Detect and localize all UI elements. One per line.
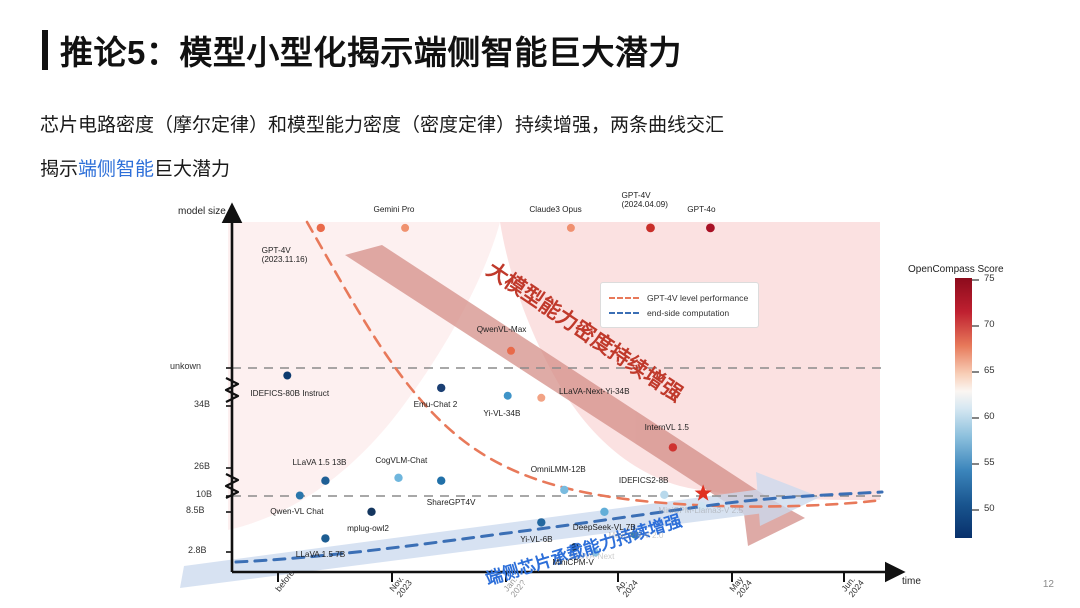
- scatter-point: [321, 534, 329, 542]
- legend-dash-orange-icon: [609, 297, 639, 299]
- legend-item-end-side: end-side computation: [609, 305, 748, 320]
- subtitle-line-2: 揭示端侧智能巨大潜力: [40, 148, 1040, 192]
- scatter-point-label: GPT-4V(2023.11.16): [262, 246, 308, 265]
- legend-label-gpt4v-level: GPT-4V level performance: [647, 293, 748, 303]
- scatter-point: [401, 224, 409, 232]
- slide-subtitle: 芯片电路密度（摩尔定律）和模型能力密度（密度定律）持续增强，两条曲线交汇 揭示端…: [40, 104, 1040, 192]
- scatter-point-label: LLaVA-Next-Yi-34B: [559, 387, 630, 396]
- scatter-point: [321, 477, 329, 485]
- scatter-point-label: mplug-owl2: [347, 524, 389, 533]
- scatter-point: [504, 392, 512, 400]
- scatter-point-label: Yi-VL-34B: [483, 409, 520, 418]
- y-tick-unkown: unkown: [170, 361, 201, 371]
- scatter-point-label: LLaVA 1.5 13B: [293, 458, 347, 467]
- scatter-point-label: Qwen-VL Chat: [270, 507, 323, 516]
- page-title: 推论5：模型小型化揭示端侧智能巨大潜力: [60, 26, 682, 74]
- scatter-point: [367, 508, 375, 516]
- scatter-point-label: LLaVA 1.5 7B: [296, 550, 345, 559]
- scatter-point-label: LLaVA-Next: [571, 552, 615, 561]
- x-axis-label: time: [902, 576, 921, 588]
- scatter-point: [646, 224, 655, 233]
- scatter-point-label: IDEFICS2-8B: [619, 476, 669, 485]
- subtitle-line-1: 芯片电路密度（摩尔定律）和模型能力密度（密度定律）持续增强，两条曲线交汇: [40, 104, 1040, 148]
- colorbar-tick-65: 65: [984, 366, 995, 377]
- y-tick-28b: 2.8B: [188, 545, 207, 555]
- scatter-point-label: QwenVL-Max: [477, 325, 527, 334]
- model-size-vs-time-scatter-chart: model size time unkown 34B 26B 10B 8.5B …: [160, 200, 1060, 600]
- scatter-point: [706, 224, 715, 233]
- scatter-point: [437, 384, 445, 392]
- scatter-point: [537, 518, 545, 526]
- y-tick-85b: 8.5B: [186, 505, 205, 515]
- scatter-point: [437, 477, 445, 485]
- colorbar-tick-55: 55: [984, 458, 995, 469]
- colorbar-tick-75: 75: [984, 274, 995, 285]
- colorbar-tick-70: 70: [984, 320, 995, 331]
- legend-item-gpt4v-level: GPT-4V level performance: [609, 290, 748, 305]
- colorbar-tick-50: 50: [984, 504, 995, 515]
- title-accent-bar: [42, 30, 48, 70]
- legend-dash-blue-icon: [609, 312, 639, 314]
- scatter-point-label: InternVL 1.5: [645, 423, 689, 432]
- y-tick-26b: 26B: [194, 461, 210, 471]
- scatter-point-label: IDEFICS-80B Instruct: [250, 389, 329, 398]
- scatter-point-label: Emu-Chat 2: [414, 400, 458, 409]
- slide-canvas: 推论5：模型小型化揭示端侧智能巨大潜力 芯片电路密度（摩尔定律）和模型能力密度（…: [0, 0, 1080, 608]
- subtitle-line-2-post: 巨大潜力: [154, 159, 230, 180]
- y-tick-10b: 10B: [196, 489, 212, 499]
- scatter-point-label: GPT-4o: [687, 205, 715, 214]
- page-number: 12: [1043, 579, 1054, 590]
- colorbar-tick-60: 60: [984, 412, 995, 423]
- scatter-point: [394, 474, 402, 482]
- scatter-point-label: MiniCPM-Llama3-V 2.5: [658, 506, 743, 515]
- scatter-point-label: GPT-4V(2024.04.09): [622, 191, 668, 210]
- slide-title-row: 推论5：模型小型化揭示端侧智能巨大潜力: [42, 26, 682, 74]
- scatter-point: [660, 491, 668, 499]
- legend-label-end-side: end-side computation: [647, 308, 729, 318]
- scatter-point: [507, 347, 515, 355]
- y-axis-label: model size: [178, 206, 226, 218]
- subtitle-highlight: 端侧智能: [78, 159, 154, 180]
- scatter-point: [600, 508, 608, 516]
- scatter-point: [283, 372, 291, 380]
- scatter-point: [296, 492, 304, 500]
- scatter-point-label: Gemini Pro: [374, 205, 415, 214]
- scatter-point-label: Yi-VL-6B: [520, 535, 552, 544]
- subtitle-line-2-pre: 揭示: [40, 159, 78, 180]
- scatter-point-label: MiniCPM-V 2.0: [608, 531, 663, 540]
- chart-legend: GPT-4V level performance end-side comput…: [600, 282, 759, 328]
- y-tick-34b: 34B: [194, 399, 210, 409]
- scatter-point: [317, 224, 325, 232]
- scatter-point: [669, 443, 677, 451]
- scatter-point-label: CogVLM-Chat: [375, 456, 427, 465]
- scatter-point: [537, 394, 545, 402]
- scatter-point: [567, 224, 575, 232]
- scatter-point: [560, 486, 568, 494]
- scatter-point-label: ShareGPT4V: [427, 498, 476, 507]
- scatter-point-label: Claude3 Opus: [529, 205, 581, 214]
- scatter-point-label: OmniLMM-12B: [531, 465, 586, 474]
